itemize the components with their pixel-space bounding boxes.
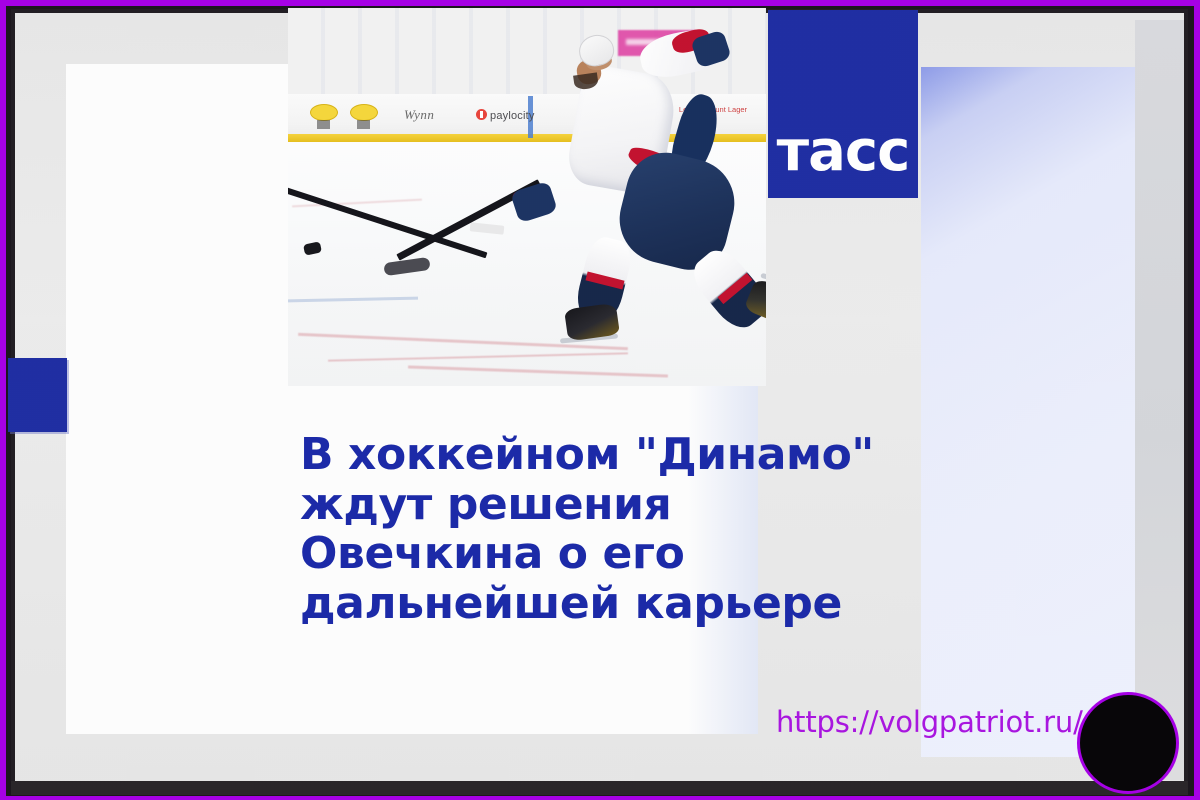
headline-line-2: ждут решения: [300, 480, 900, 530]
ice-blue-line: [288, 297, 418, 303]
tass-logo-text: ТАСС: [777, 124, 910, 180]
tass-logo[interactable]: ТАСС: [768, 10, 918, 198]
screenshot-canvas: Wynn paylocity CreditOne Let's Discount …: [0, 0, 1200, 800]
blue-accent-square: [8, 358, 67, 432]
watermark-url[interactable]: https://volgpatriot.ru/: [776, 705, 1083, 739]
ad-oval-left-2: [350, 104, 378, 121]
right-gray-column: [1135, 20, 1187, 780]
lavender-accent-panel: [921, 67, 1135, 757]
headline-line-4: дальнейшей карьере: [300, 579, 900, 629]
ice-red-mark-3: [408, 365, 668, 377]
bottom-dark-strip: [11, 781, 1188, 795]
headline-line-3: Овечкина о его: [300, 529, 900, 579]
paylocity-mark-icon: [476, 109, 487, 120]
ad-oval-left: [310, 104, 338, 121]
article-headline: В хоккейном "Динамо" ждут решения Овечки…: [300, 430, 900, 629]
ice-red-mark-2: [328, 352, 628, 361]
ad-paylocity: paylocity: [476, 109, 535, 122]
right-dark-strip: [1184, 9, 1188, 783]
headline-line-1: В хоккейном "Динамо": [300, 430, 900, 480]
ad-wynn-label: Wynn: [404, 107, 434, 123]
hockey-photo: Wynn paylocity CreditOne Let's Discount …: [288, 8, 766, 386]
ad-paylocity-label: paylocity: [490, 110, 535, 122]
circle-badge[interactable]: [1077, 692, 1179, 794]
